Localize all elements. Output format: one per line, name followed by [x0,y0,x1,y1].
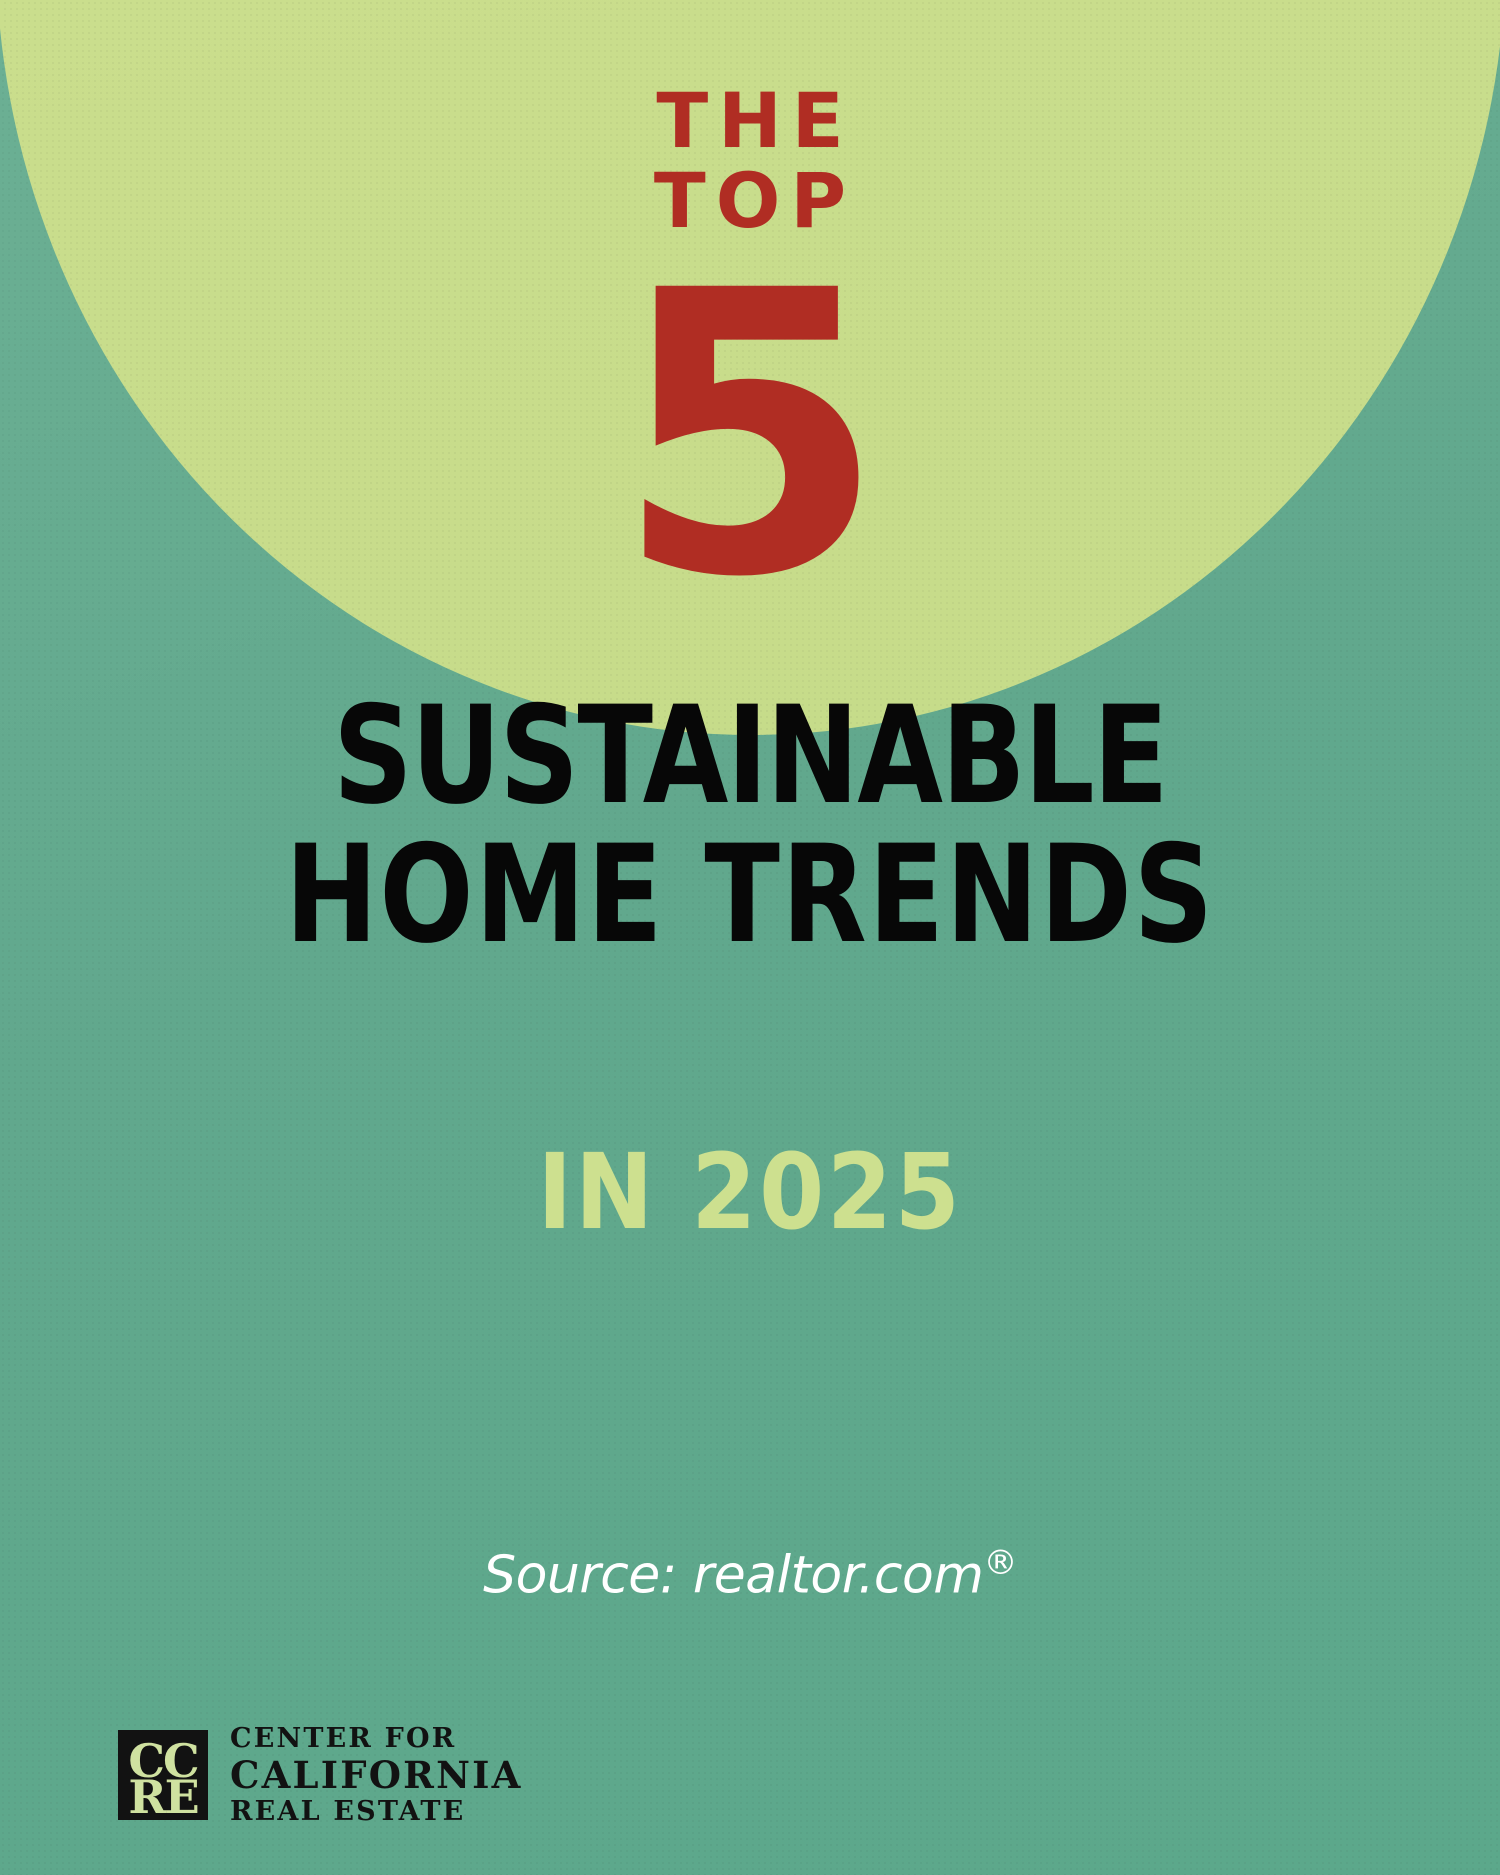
source-label: Source: realtor.com [483,1545,983,1605]
ccre-logo: CC RE CENTER FOR CALIFORNIA REAL ESTATE [118,1723,523,1827]
headline: SUSTAINABLE HOME TRENDS [135,688,1365,962]
ccre-logo-mark: CC RE [118,1730,208,1820]
registered-mark-icon: ® [983,1543,1017,1583]
logo-mark-bottom: RE [118,1774,208,1820]
headline-line-2: HOME TRENDS [135,827,1365,962]
poster-content: THE TOP 5 SUSTAINABLE HOME TRENDS IN 202… [0,0,1500,1875]
logo-text-line-1: CENTER FOR [230,1723,523,1755]
big-number: 5 [0,240,1500,630]
source-attribution: Source: realtor.com® [0,1543,1500,1605]
ccre-logo-text: CENTER FOR CALIFORNIA REAL ESTATE [230,1723,523,1827]
eyebrow-line-1: THE [656,76,853,165]
headline-line-1: SUSTAINABLE [135,688,1365,823]
logo-text-line-3: REAL ESTATE [230,1796,523,1828]
year-subtitle: IN 2025 [75,1140,1425,1244]
logo-text-line-2: CALIFORNIA [230,1755,523,1796]
